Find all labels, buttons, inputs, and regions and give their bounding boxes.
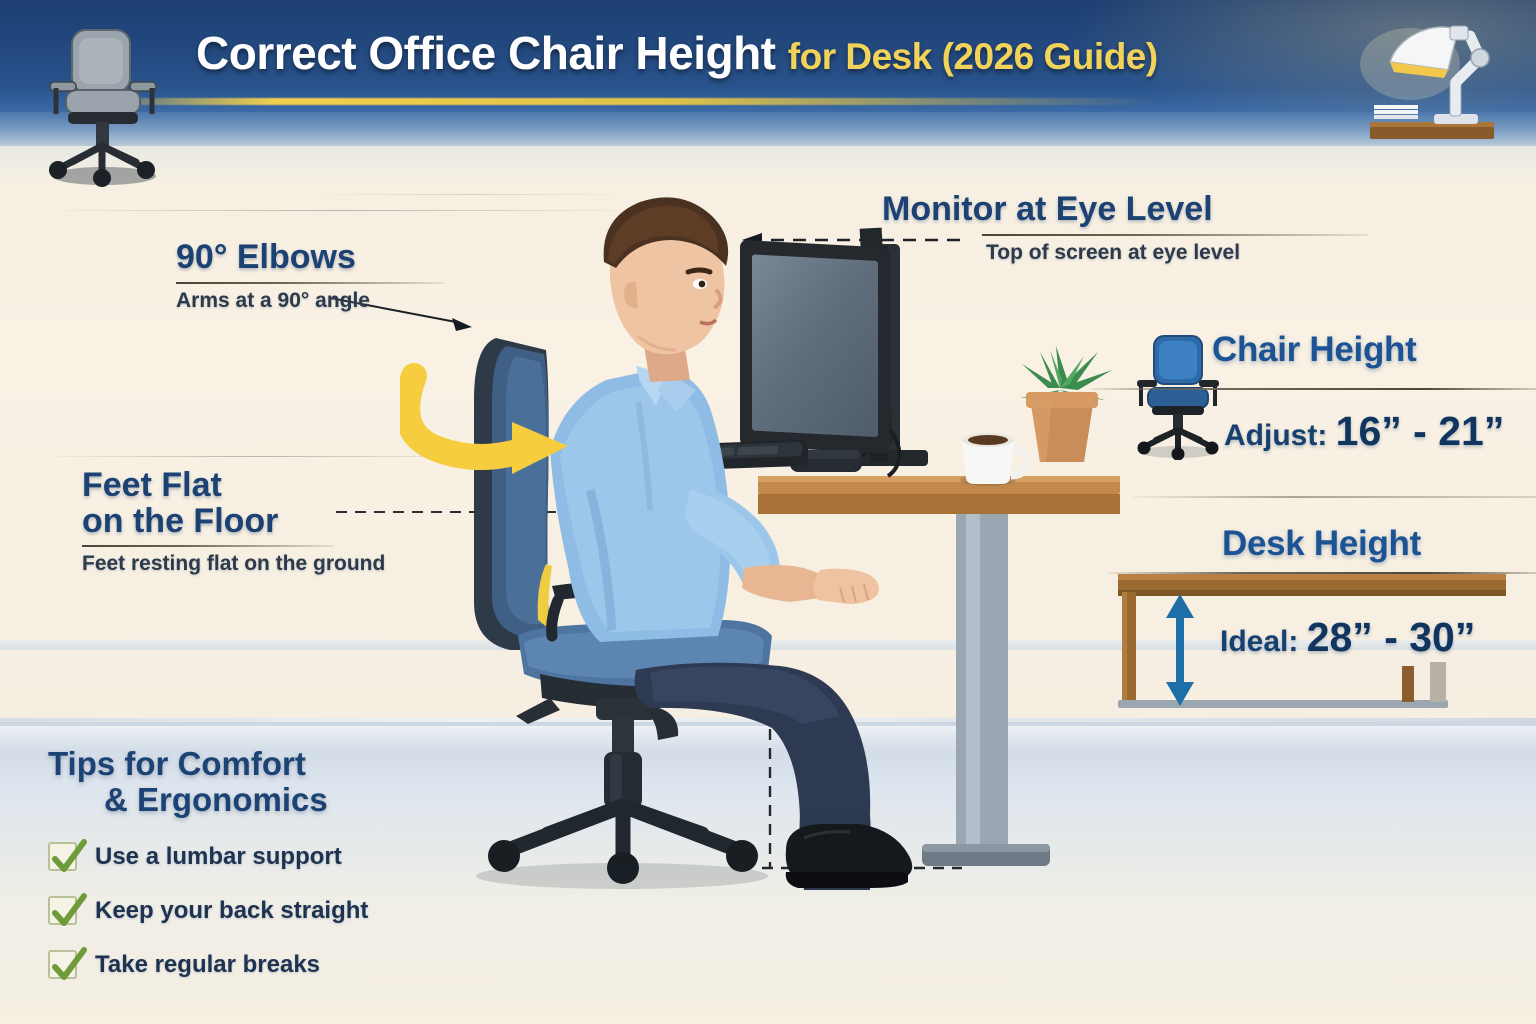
metric-desk-height-title: Desk Height <box>1222 524 1475 564</box>
check-icon <box>48 896 77 925</box>
metric-desk-height: Desk Height Ideal: 28” - 30” <box>1222 524 1475 661</box>
callout-feet-rule <box>82 545 334 547</box>
desk-lamp-icon <box>1352 18 1512 146</box>
callout-monitor: Monitor at Eye Level Top of screen at ey… <box>882 192 1368 265</box>
callout-elbows-rule <box>176 282 444 284</box>
callout-feet-subtitle: Feet resting flat on the ground <box>82 552 385 576</box>
hand <box>813 569 878 604</box>
metric-chair-height-label: Adjust: <box>1224 419 1327 452</box>
coffee-mug <box>960 433 1027 486</box>
callout-monitor-rule <box>982 234 1368 236</box>
tips-title: Tips for Comfort & Ergonomics <box>48 746 478 817</box>
metric-chair-height-range: 16” - 21” <box>1336 408 1505 454</box>
page-title-sub: for Desk (2026 Guide) <box>788 36 1158 77</box>
header-lower-band <box>0 112 1536 146</box>
tip-label: Use a lumbar support <box>95 843 342 871</box>
metric-chair-height: Chair Height Adjust: 16” - 21” <box>1212 330 1504 455</box>
callout-elbows-subtitle: Arms at a 90° angle <box>176 289 444 313</box>
callout-feet: Feet Flat on the Floor Feet resting flat… <box>82 468 385 576</box>
callout-feet-title-line2: on the Floor <box>82 504 385 540</box>
metric-desk-height-range: 28” - 30” <box>1307 614 1476 660</box>
height-measure-arrow <box>1166 594 1194 706</box>
list-item: Take regular breaks <box>48 950 478 979</box>
list-item: Use a lumbar support <box>48 842 478 871</box>
header-accent-underline <box>80 98 1160 105</box>
check-icon <box>48 950 77 979</box>
list-item: Keep your back straight <box>48 896 478 925</box>
potted-succulent <box>1020 346 1112 462</box>
computer-monitor <box>740 228 928 476</box>
infographic-canvas: Correct Office Chair Height for Desk (20… <box>0 0 1536 1024</box>
page-title-main: Correct Office Chair Height <box>196 27 776 79</box>
tips-panel: Tips for Comfort & Ergonomics Use a lumb… <box>48 746 478 979</box>
metric-chair-height-value: Adjust: 16” - 21” <box>1224 408 1504 455</box>
tip-label: Keep your back straight <box>95 897 368 925</box>
check-icon <box>48 842 77 871</box>
callout-elbows: 90° Elbows Arms at a 90° angle <box>176 240 444 313</box>
metric-desk-height-label: Ideal: <box>1220 625 1298 658</box>
page-title: Correct Office Chair Height for Desk (20… <box>196 26 1158 80</box>
tips-title-line2: & Ergonomics <box>104 782 478 818</box>
metric-desk-height-value: Ideal: 28” - 30” <box>1220 614 1475 661</box>
tip-label: Take regular breaks <box>95 951 320 979</box>
callout-monitor-title: Monitor at Eye Level <box>882 192 1368 228</box>
callout-monitor-subtitle: Top of screen at eye level <box>986 241 1368 265</box>
metric-chair-height-title: Chair Height <box>1212 330 1504 370</box>
black-shoe <box>786 824 912 888</box>
callout-feet-title-line1: Feet Flat <box>82 468 385 504</box>
callout-elbows-title: 90° Elbows <box>176 240 444 276</box>
tips-title-line1: Tips for Comfort <box>48 745 306 782</box>
chair-height-lower-rule <box>1132 496 1536 498</box>
office-chair-icon <box>38 18 168 188</box>
